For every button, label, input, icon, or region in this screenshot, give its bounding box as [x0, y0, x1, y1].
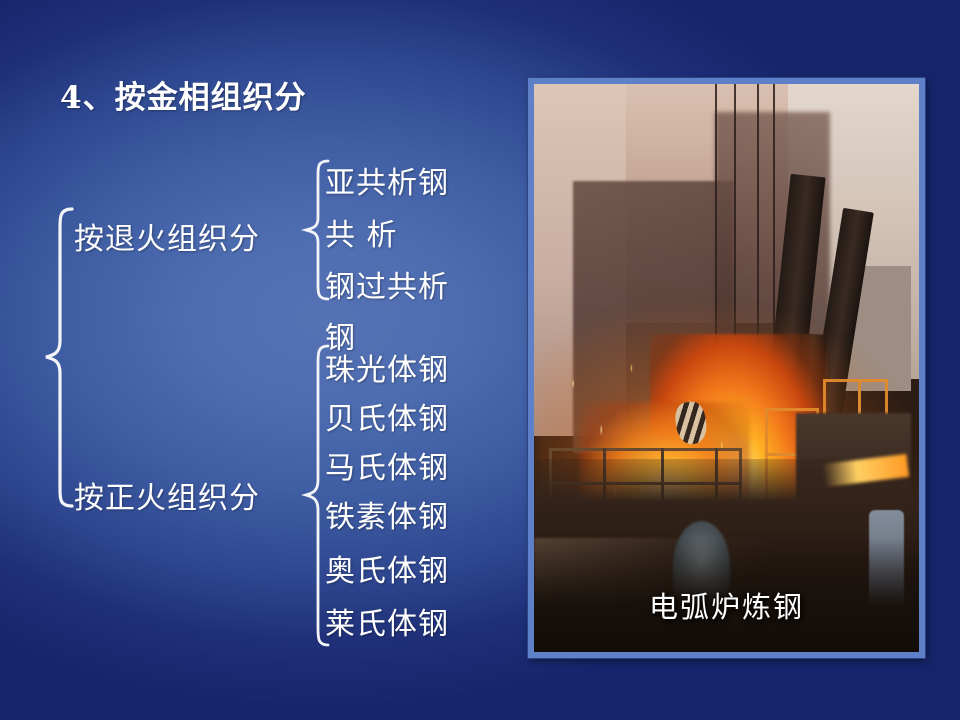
steelmaking-photo: 电弧炉炼钢: [534, 84, 919, 652]
outer-brace-icon: [30, 205, 76, 510]
tree-item: 贝氏体钢: [325, 394, 449, 438]
tree-item: 钢过共析: [325, 262, 449, 306]
branch-label-0: 按退火组织分: [74, 214, 260, 258]
tree-item: 铁素体钢: [325, 492, 449, 536]
branch-label-1: 按正火组织分: [74, 473, 260, 517]
tree-item: 莱氏体钢: [325, 599, 449, 643]
tree-item: 共 析: [325, 210, 398, 254]
classification-tree: 按退火组织分 按正火组织分 亚共析钢 共 析 钢过共析 钢 珠光体钢 贝氏体钢 …: [0, 0, 520, 720]
photo-frame: 电弧炉炼钢: [528, 78, 925, 658]
tree-item: 珠光体钢: [325, 345, 449, 389]
photo-caption: 电弧炉炼钢: [534, 584, 919, 626]
tree-item: 奥氏体钢: [325, 546, 449, 590]
tree-item: 亚共析钢: [325, 158, 449, 202]
tree-item: 马氏体钢: [325, 443, 449, 487]
slide-canvas: 4、按金相组织分 按退火组织分 按正火组织分 亚共析钢 共 析 钢过共析 钢 珠…: [0, 0, 960, 720]
